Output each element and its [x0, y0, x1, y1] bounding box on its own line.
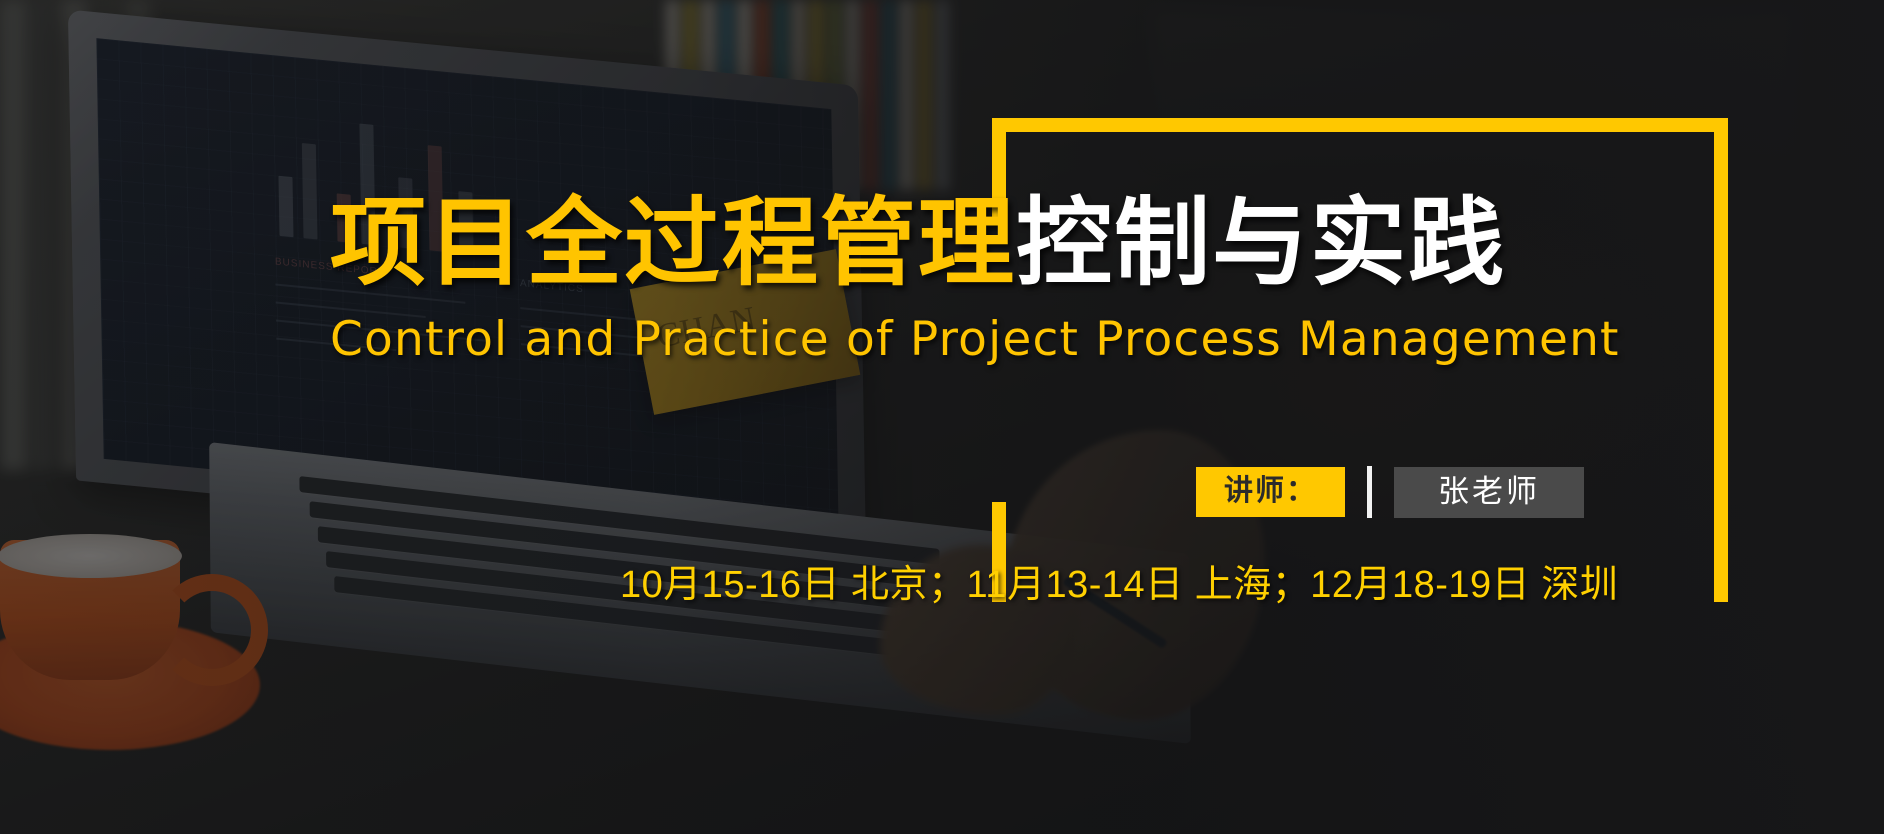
schedule-line: 10月15-16日 北京；11月13-14日 上海；12月18-19日 深圳	[620, 553, 1618, 608]
course-banner: BUSINESS REPORT ANALYTICS CHAN	[0, 0, 1884, 834]
frame-top-bar	[992, 118, 1728, 132]
frame-right-bar	[1714, 118, 1728, 602]
title-rest: 控制与实践	[1016, 190, 1506, 297]
instructor-divider	[1367, 466, 1372, 518]
subtitle-english: Control and Practice of Project Process …	[330, 312, 1620, 367]
page-title: 项目全过程管理控制与实践	[330, 196, 1506, 292]
instructor-row: 讲师： 张老师	[1196, 466, 1584, 518]
instructor-label: 讲师：	[1196, 467, 1345, 517]
instructor-name: 张老师	[1394, 467, 1584, 518]
title-highlight: 项目全过程管理	[330, 190, 1016, 297]
